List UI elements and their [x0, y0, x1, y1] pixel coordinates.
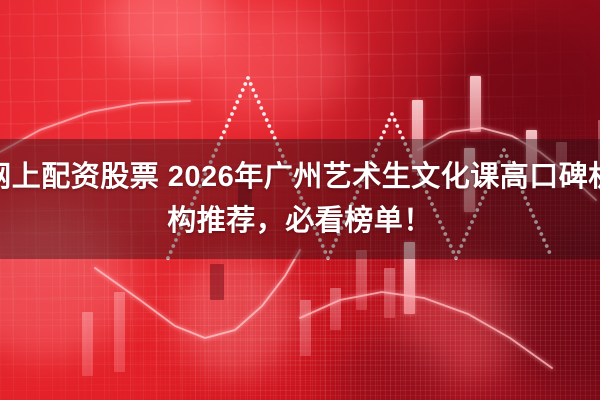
headline-line-2: 构推荐，必看榜单！ [167, 202, 433, 240]
trend-dot [225, 124, 229, 128]
trend-dot [257, 100, 261, 104]
trend-dot [241, 88, 245, 92]
candlestick-bar [210, 264, 224, 300]
trend-dot [235, 100, 239, 104]
trend-dot [387, 118, 391, 122]
headline-text: 网上配资股票 2026年广州艺术生文化课高口碑机 构推荐，必看榜单！ [0, 139, 600, 259]
trend-dot [259, 106, 263, 110]
bokeh-blob [395, 262, 525, 382]
candlestick-bar [330, 288, 341, 330]
candlestick-bar [470, 76, 481, 132]
trend-dot [393, 118, 397, 122]
trend-dot [233, 106, 237, 110]
trend-dot [395, 124, 399, 128]
trend-dot [222, 130, 226, 134]
trend-dot [246, 76, 250, 80]
candlestick-bar [114, 292, 125, 372]
trend-dot [267, 124, 271, 128]
bokeh-blob [105, 0, 225, 70]
trend-dot [265, 118, 269, 122]
trend-dot [398, 130, 402, 134]
candlestick-bar [356, 250, 367, 310]
trend-dot [230, 112, 234, 116]
bokeh-blob [175, 255, 295, 375]
trend-dot [270, 130, 274, 134]
trend-dot [249, 82, 253, 86]
promotional-banner: 网上配资股票 2026年广州艺术生文化课高口碑机 构推荐，必看榜单！ [0, 0, 600, 400]
trend-dot [385, 124, 389, 128]
candlestick-bar [384, 268, 395, 318]
headline-line-1: 网上配资股票 2026年广州艺术生文化课高口碑机 [0, 158, 600, 196]
candlestick-bar [300, 300, 311, 356]
trend-dot [227, 118, 231, 122]
trend-dot [251, 88, 255, 92]
candlestick-bar [82, 312, 93, 376]
trend-dot [243, 82, 247, 86]
glow-curve [95, 250, 300, 338]
bokeh-blob [200, 10, 350, 120]
bokeh-blob [330, 330, 450, 400]
trend-dot [262, 112, 266, 116]
glow-curve [300, 292, 552, 368]
trend-dot [238, 94, 242, 98]
trend-dot [382, 130, 386, 134]
trend-dot [390, 112, 394, 116]
trend-dot [254, 94, 258, 98]
